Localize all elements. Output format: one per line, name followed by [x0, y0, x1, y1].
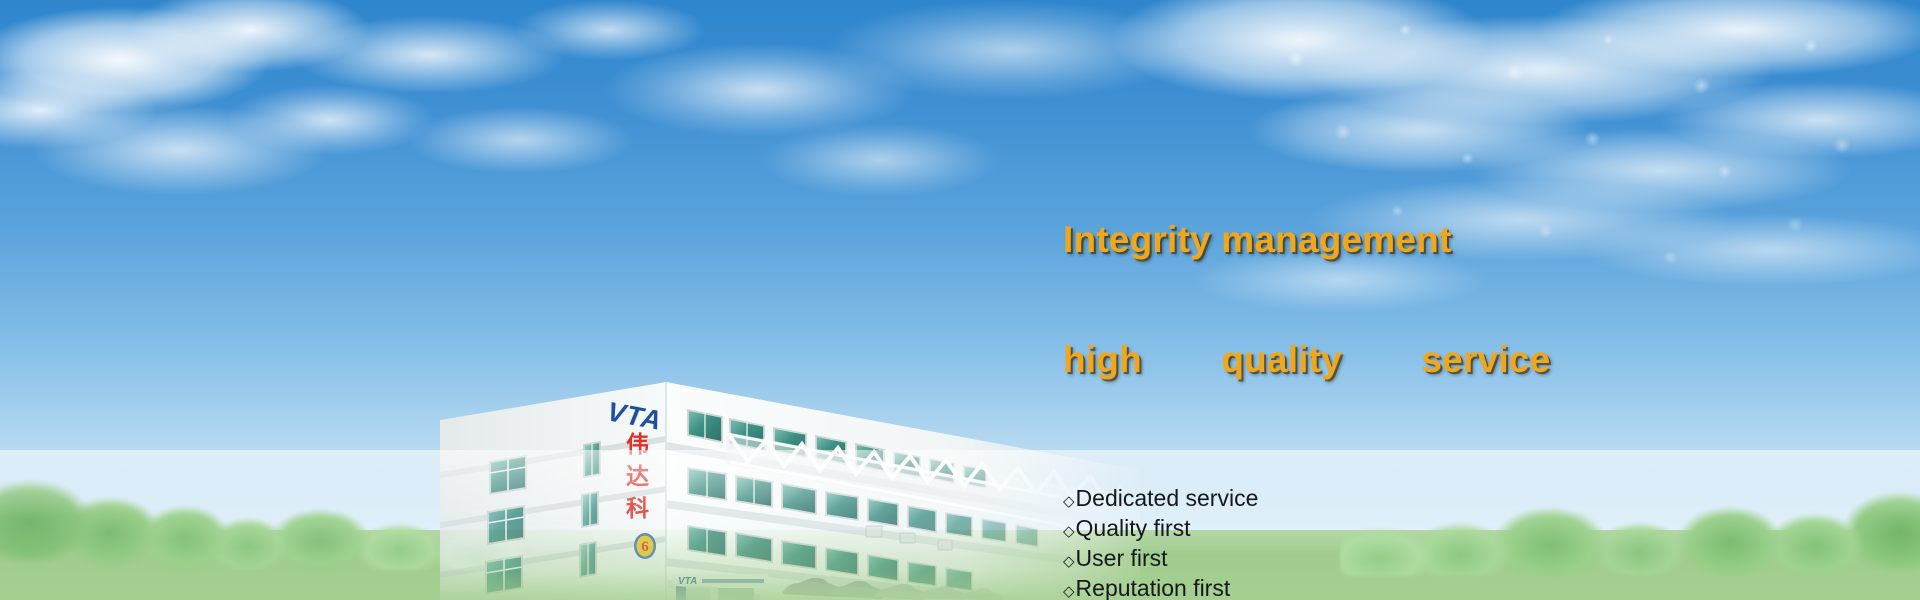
headline-line-1: Integrity management: [1063, 220, 1763, 260]
headline: Integrity management high quality servic…: [1063, 140, 1763, 460]
sign-char-3: 科: [626, 496, 649, 522]
value-bullet-list: ◇ Dedicated service ◇ Quality first ◇ Us…: [1063, 485, 1763, 600]
vertical-chinese-sign: 伟 达 科: [626, 432, 649, 522]
diamond-bullet-icon: ◇: [1063, 548, 1075, 575]
sign-char-1: 伟: [626, 432, 649, 458]
list-item: ◇ Dedicated service: [1063, 485, 1763, 515]
badge-number: 6: [641, 539, 649, 555]
diamond-bullet-icon: ◇: [1063, 518, 1075, 545]
list-item: ◇ Reputation first: [1063, 575, 1763, 600]
list-item-label: Reputation first: [1076, 575, 1231, 600]
headline-line-2: high quality service: [1063, 340, 1763, 380]
diamond-bullet-icon: ◇: [1063, 578, 1075, 600]
list-item: ◇ User first: [1063, 545, 1763, 575]
factory-building: VTA 伟 达 科 6 VTA: [430, 170, 1160, 600]
entrance-logo-text: VTA: [678, 576, 697, 587]
list-item-label: Quality first: [1076, 515, 1191, 542]
diamond-bullet-icon: ◇: [1063, 488, 1075, 515]
list-item-label: Dedicated service: [1076, 485, 1259, 512]
company-hero-banner: VTA 伟 达 科 6 VTA: [0, 0, 1920, 600]
building-illustration: VTA 伟 达 科 6 VTA: [430, 170, 1160, 600]
list-item-label: User first: [1076, 545, 1168, 572]
list-item: ◇ Quality first: [1063, 515, 1763, 545]
sign-char-2: 达: [626, 464, 649, 490]
promo-text-block: Integrity management high quality servic…: [1063, 140, 1763, 600]
wall-badge-6: 6: [634, 533, 656, 559]
